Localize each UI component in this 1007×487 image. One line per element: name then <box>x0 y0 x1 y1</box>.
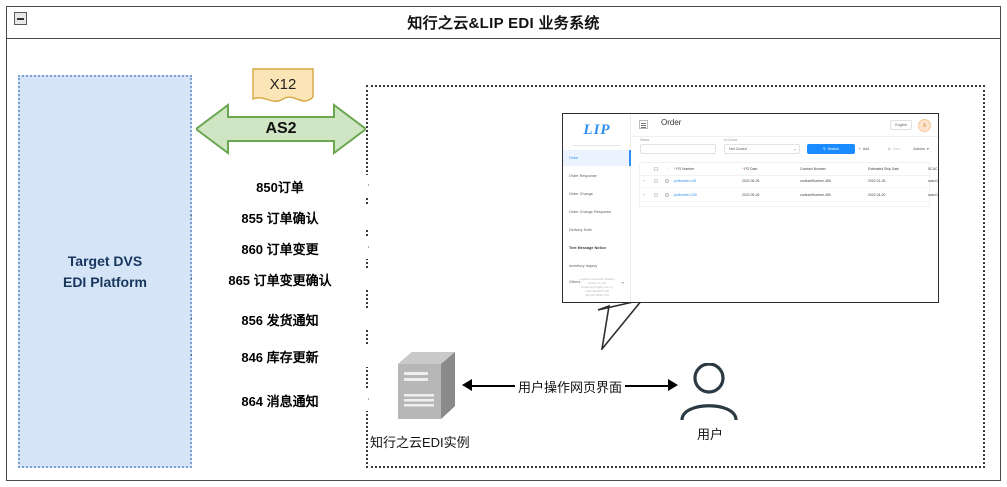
flow-label-wrap: 865 订单变更确认 <box>192 268 368 290</box>
table-row[interactable]: + poNumber-230 2022-09-26 contractNumber… <box>640 189 929 202</box>
flow-label-wrap: 855 订单确认 <box>192 206 368 228</box>
sidebar-item-label: Order <box>569 156 579 160</box>
flow-label: 860 订单变更 <box>239 239 320 258</box>
cell-estimated-ship-date: 2022-02-26 <box>868 179 885 183</box>
platform-label: Target DVS EDI Platform <box>63 251 147 292</box>
sidebar-item-order-response[interactable]: Order Response <box>563 168 631 184</box>
sidebar-item-order-change-response[interactable]: Order Change Response <box>563 204 631 220</box>
flow-label: 856 发货通知 <box>239 310 320 329</box>
eye-icon: ◉ <box>888 147 891 151</box>
chevron-down-icon: ▾ <box>794 147 796 152</box>
column-header-estimated-ship-date[interactable]: Estimated Ship Date <box>868 167 899 171</box>
view-button-label: View <box>893 147 901 151</box>
language-selector[interactable]: English <box>890 120 912 130</box>
cell-scac-code: scacCode-260 <box>928 193 939 197</box>
as2-double-arrow: AS2 <box>196 103 366 155</box>
add-button-label: Add <box>863 147 869 151</box>
add-button[interactable]: + Add <box>850 144 878 154</box>
window-title-bar: 知行之云&LIP EDI 业务系统 <box>6 6 1001 39</box>
footer-line: (86)-021-6030-1770 <box>563 294 631 298</box>
flow-860: 860 订单变更 <box>192 237 368 259</box>
flow-label: 865 订单变更确认 <box>226 270 333 289</box>
flow-855: 855 订单确认 <box>192 206 368 228</box>
sidebar-item-text-message-notice[interactable]: Text Message Notice <box>563 240 631 256</box>
avatar[interactable]: A <box>918 119 931 132</box>
app-header: Order English A <box>631 114 938 137</box>
user-caption: 用户 <box>660 424 760 443</box>
flow-label-wrap: 850订单 <box>192 175 368 197</box>
column-header-po-number[interactable]: PO Number <box>674 167 694 171</box>
sidebar-item-inventory-inquiry[interactable]: Inventory Inquiry <box>563 258 631 274</box>
user-icon <box>678 363 740 421</box>
sidebar-item-label: Order Response <box>569 174 597 178</box>
x12-note: X12 <box>252 68 314 106</box>
diagram-canvas: 知行之云&LIP EDI 业务系统 Target DVS EDI Platfor… <box>0 0 1007 487</box>
flow-846: 846 库存更新 <box>192 345 368 367</box>
lip-logo: LIP <box>563 118 631 142</box>
sidebar-footer: Logistics Information Platform version v… <box>563 278 631 298</box>
flow-label: 850订单 <box>254 177 306 196</box>
screenshot-callout-pointer <box>596 300 666 350</box>
expand-row-icon[interactable]: + <box>643 192 645 197</box>
plus-icon: + <box>859 147 861 151</box>
web-ui-arrow: 用户操作网页界面 <box>462 376 678 396</box>
flow-850: 850订单 <box>192 175 368 197</box>
app-main: Order English A Status Is Closed Not Clo… <box>631 114 938 302</box>
app-sidebar: LIP Order Order Response Order Change Or… <box>563 114 631 302</box>
search-button[interactable]: ⚲ Search <box>807 144 855 154</box>
is-closed-value: Not Closed <box>729 147 747 151</box>
flow-856: 856 发货通知 <box>192 308 368 330</box>
page-title: 知行之云&LIP EDI 业务系统 <box>6 6 1001 39</box>
sidebar-divider <box>573 145 621 146</box>
web-ui-arrow-label: 用户操作网页界面 <box>515 377 625 396</box>
flow-label: 855 订单确认 <box>239 208 320 227</box>
status-filter-select[interactable] <box>640 144 716 154</box>
sidebar-item-label: Delivery Note <box>569 228 592 232</box>
expand-row-icon[interactable]: + <box>643 178 645 183</box>
row-checkbox[interactable] <box>654 179 658 183</box>
flow-label-wrap: 860 订单变更 <box>192 237 368 259</box>
orders-table: ⋮ PO Number PO Date Contract Number Esti… <box>639 162 930 207</box>
hamburger-menu-icon[interactable] <box>639 120 648 129</box>
collapse-minus-icon[interactable] <box>14 12 27 25</box>
platform-label-line1: Target DVS <box>63 251 147 271</box>
sidebar-item-order-change[interactable]: Order Change <box>563 186 631 202</box>
column-header-scac-code[interactable]: SCAC Code <box>928 167 939 171</box>
flow-label: 864 消息通知 <box>239 391 320 410</box>
x12-label: X12 <box>252 68 314 100</box>
actions-button[interactable]: Actions ▾ <box>906 144 936 154</box>
flow-864: 864 消息通知 <box>192 389 368 411</box>
as2-label: AS2 <box>196 103 366 155</box>
actions-button-label: Actions <box>913 147 925 151</box>
cell-estimated-ship-date: 2022-04-20 <box>868 193 885 197</box>
cell-contract-number: contractNumber-480 <box>800 193 831 197</box>
sidebar-item-label: Text Message Notice <box>569 246 606 250</box>
search-icon: ⚲ <box>823 147 826 151</box>
cell-contract-number: contractNumber-466 <box>800 179 831 183</box>
lip-app-screenshot: LIP Order Order Response Order Change Or… <box>562 113 939 303</box>
column-header-contract-number[interactable]: Contract Number <box>800 167 826 171</box>
flow-865: 865 订单变更确认 <box>192 268 368 290</box>
server-icon <box>398 352 456 420</box>
status-filter-label: Status <box>640 138 649 142</box>
cell-po-number[interactable]: poNumber-230 <box>674 193 697 197</box>
server-caption: 知行之云EDI实例 <box>370 432 530 451</box>
search-button-label: Search <box>828 147 839 151</box>
sidebar-item-delivery-note[interactable]: Delivery Note <box>563 222 631 238</box>
platform-label-line2: EDI Platform <box>63 272 147 292</box>
info-icon[interactable] <box>665 193 669 197</box>
view-button[interactable]: ◉ View <box>880 144 908 154</box>
target-dvs-platform-box: Target DVS EDI Platform <box>18 75 192 468</box>
select-all-checkbox[interactable] <box>654 167 658 171</box>
table-row[interactable]: + poNumber-431 2022-06-26 contractNumber… <box>640 175 929 188</box>
web-ui-arrow-label-wrap: 用户操作网页界面 <box>462 376 678 396</box>
sidebar-item-label: Inventory Inquiry <box>569 264 597 268</box>
is-closed-filter-select[interactable]: Not Closed ▾ <box>724 144 800 154</box>
cell-po-date: 2022-09-26 <box>742 193 759 197</box>
flow-label-wrap: 856 发货通知 <box>192 308 368 330</box>
column-header-po-date[interactable]: PO Date <box>742 167 757 171</box>
cell-po-date: 2022-06-26 <box>742 179 759 183</box>
flow-label-wrap: 864 消息通知 <box>192 389 368 411</box>
flow-label: 846 库存更新 <box>239 347 320 366</box>
info-icon[interactable] <box>665 179 669 183</box>
sidebar-item-label: Order Change Response <box>569 210 611 214</box>
row-checkbox[interactable] <box>654 193 658 197</box>
cell-scac-code: scacCode-245 <box>928 179 939 183</box>
is-closed-filter-label: Is Closed <box>724 138 737 142</box>
sidebar-item-label: Order Change <box>569 192 593 196</box>
chevron-down-icon: ▾ <box>927 147 929 151</box>
cell-po-number[interactable]: poNumber-431 <box>674 179 697 183</box>
filter-toolbar: Status Is Closed Not Closed ▾ ⚲ Search +… <box>631 136 938 160</box>
sort-icon[interactable]: ⋮ <box>665 166 669 171</box>
app-page-title: Order <box>661 118 681 127</box>
sidebar-item-order[interactable]: Order <box>563 150 631 166</box>
flow-label-wrap: 846 库存更新 <box>192 345 368 367</box>
